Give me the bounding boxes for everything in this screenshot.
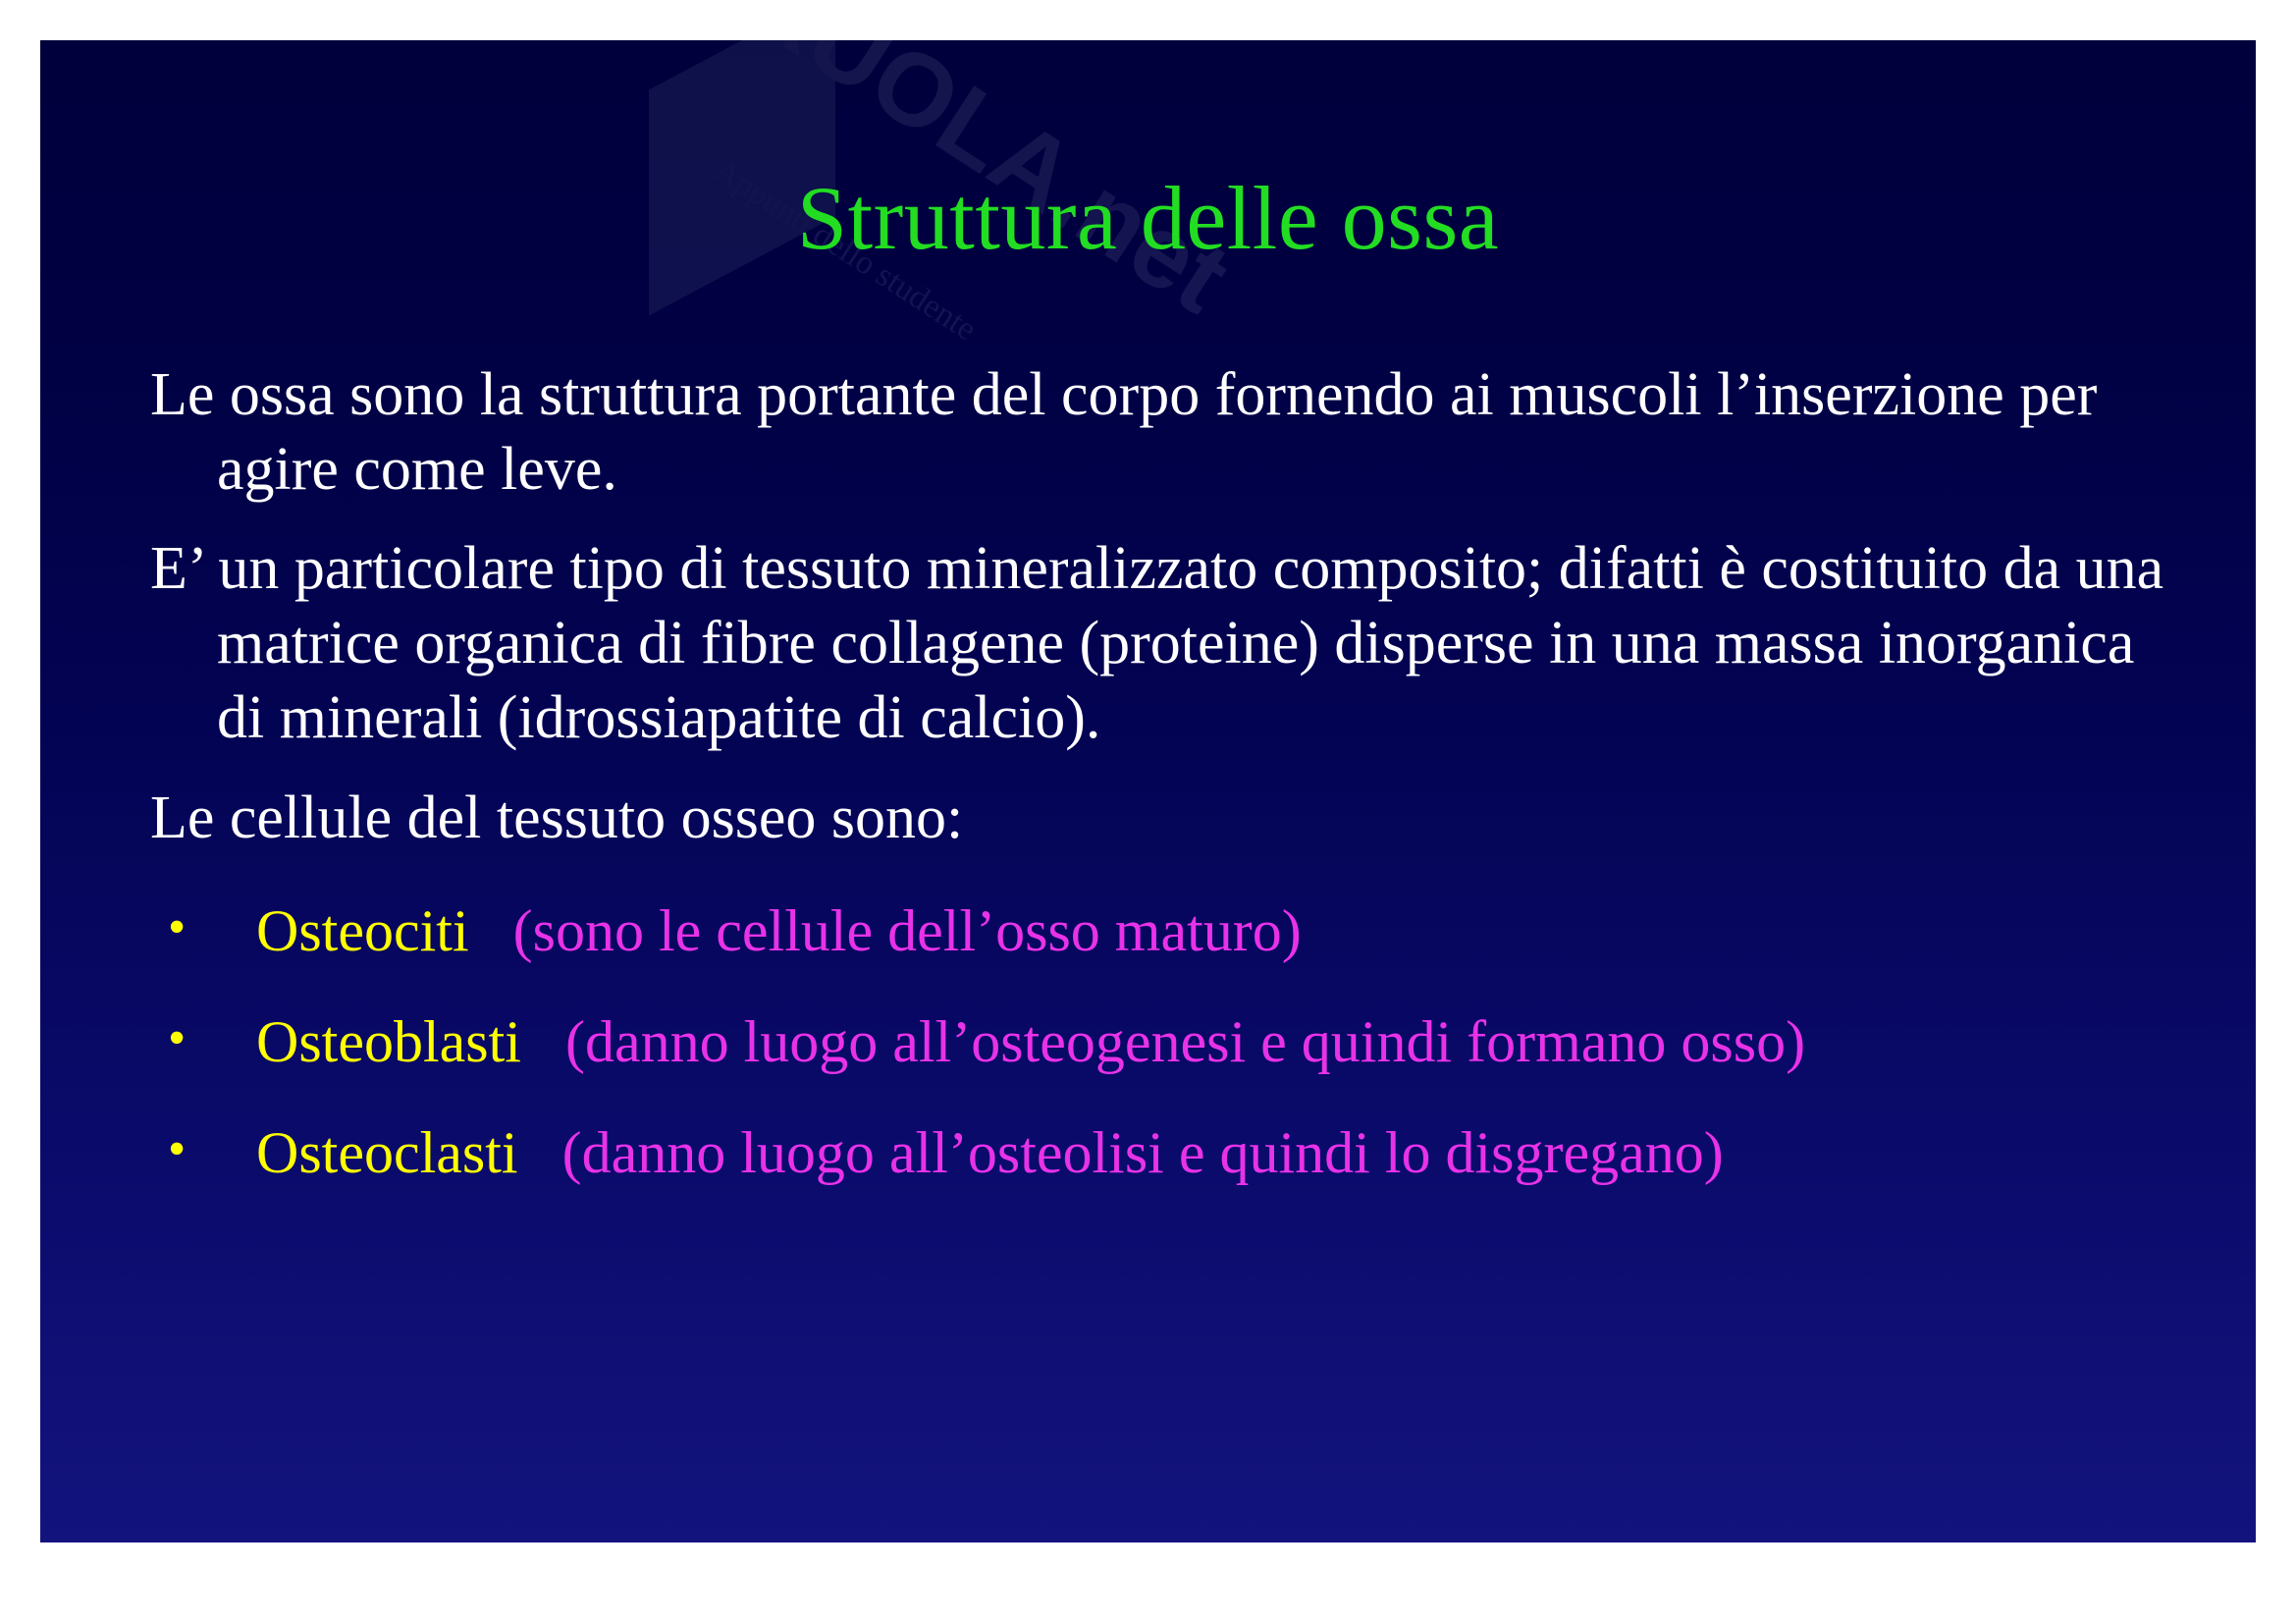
bullet-term: Osteociti xyxy=(256,898,469,963)
list-item: • Osteociti (sono le cellule dell’osso m… xyxy=(150,895,2172,967)
slide-body: Le ossa sono la struttura portante del c… xyxy=(150,357,2172,1189)
bullet-term: Osteoblasti xyxy=(256,1009,521,1074)
bullet-gloss: (sono le cellule dell’osso maturo) xyxy=(513,898,1302,963)
bullet-icon: • xyxy=(168,895,186,961)
bullet-icon: • xyxy=(168,1117,186,1183)
bullet-icon: • xyxy=(168,1006,186,1072)
paragraph-2: E’ un particolare tipo di tessuto minera… xyxy=(150,531,2172,756)
slide-title: Struttura delle ossa xyxy=(40,166,2256,270)
bullet-term: Osteoclasti xyxy=(256,1120,518,1185)
paragraph-1: Le ossa sono la struttura portante del c… xyxy=(150,357,2172,508)
list-item: • Osteoblasti (danno luogo all’osteogene… xyxy=(150,1006,2172,1078)
paragraph-3: Le cellule del tessuto osseo sono: xyxy=(150,781,2172,855)
list-item: • Osteoclasti (danno luogo all’osteolisi… xyxy=(150,1117,2172,1189)
bullet-gloss: (danno luogo all’osteolisi e quindi lo d… xyxy=(562,1120,1724,1185)
bullet-gloss: (danno luogo all’osteogenesi e quindi fo… xyxy=(565,1009,1805,1074)
slide-canvas: SKUOLA.net Appunti dello studente Strutt… xyxy=(40,40,2256,1542)
